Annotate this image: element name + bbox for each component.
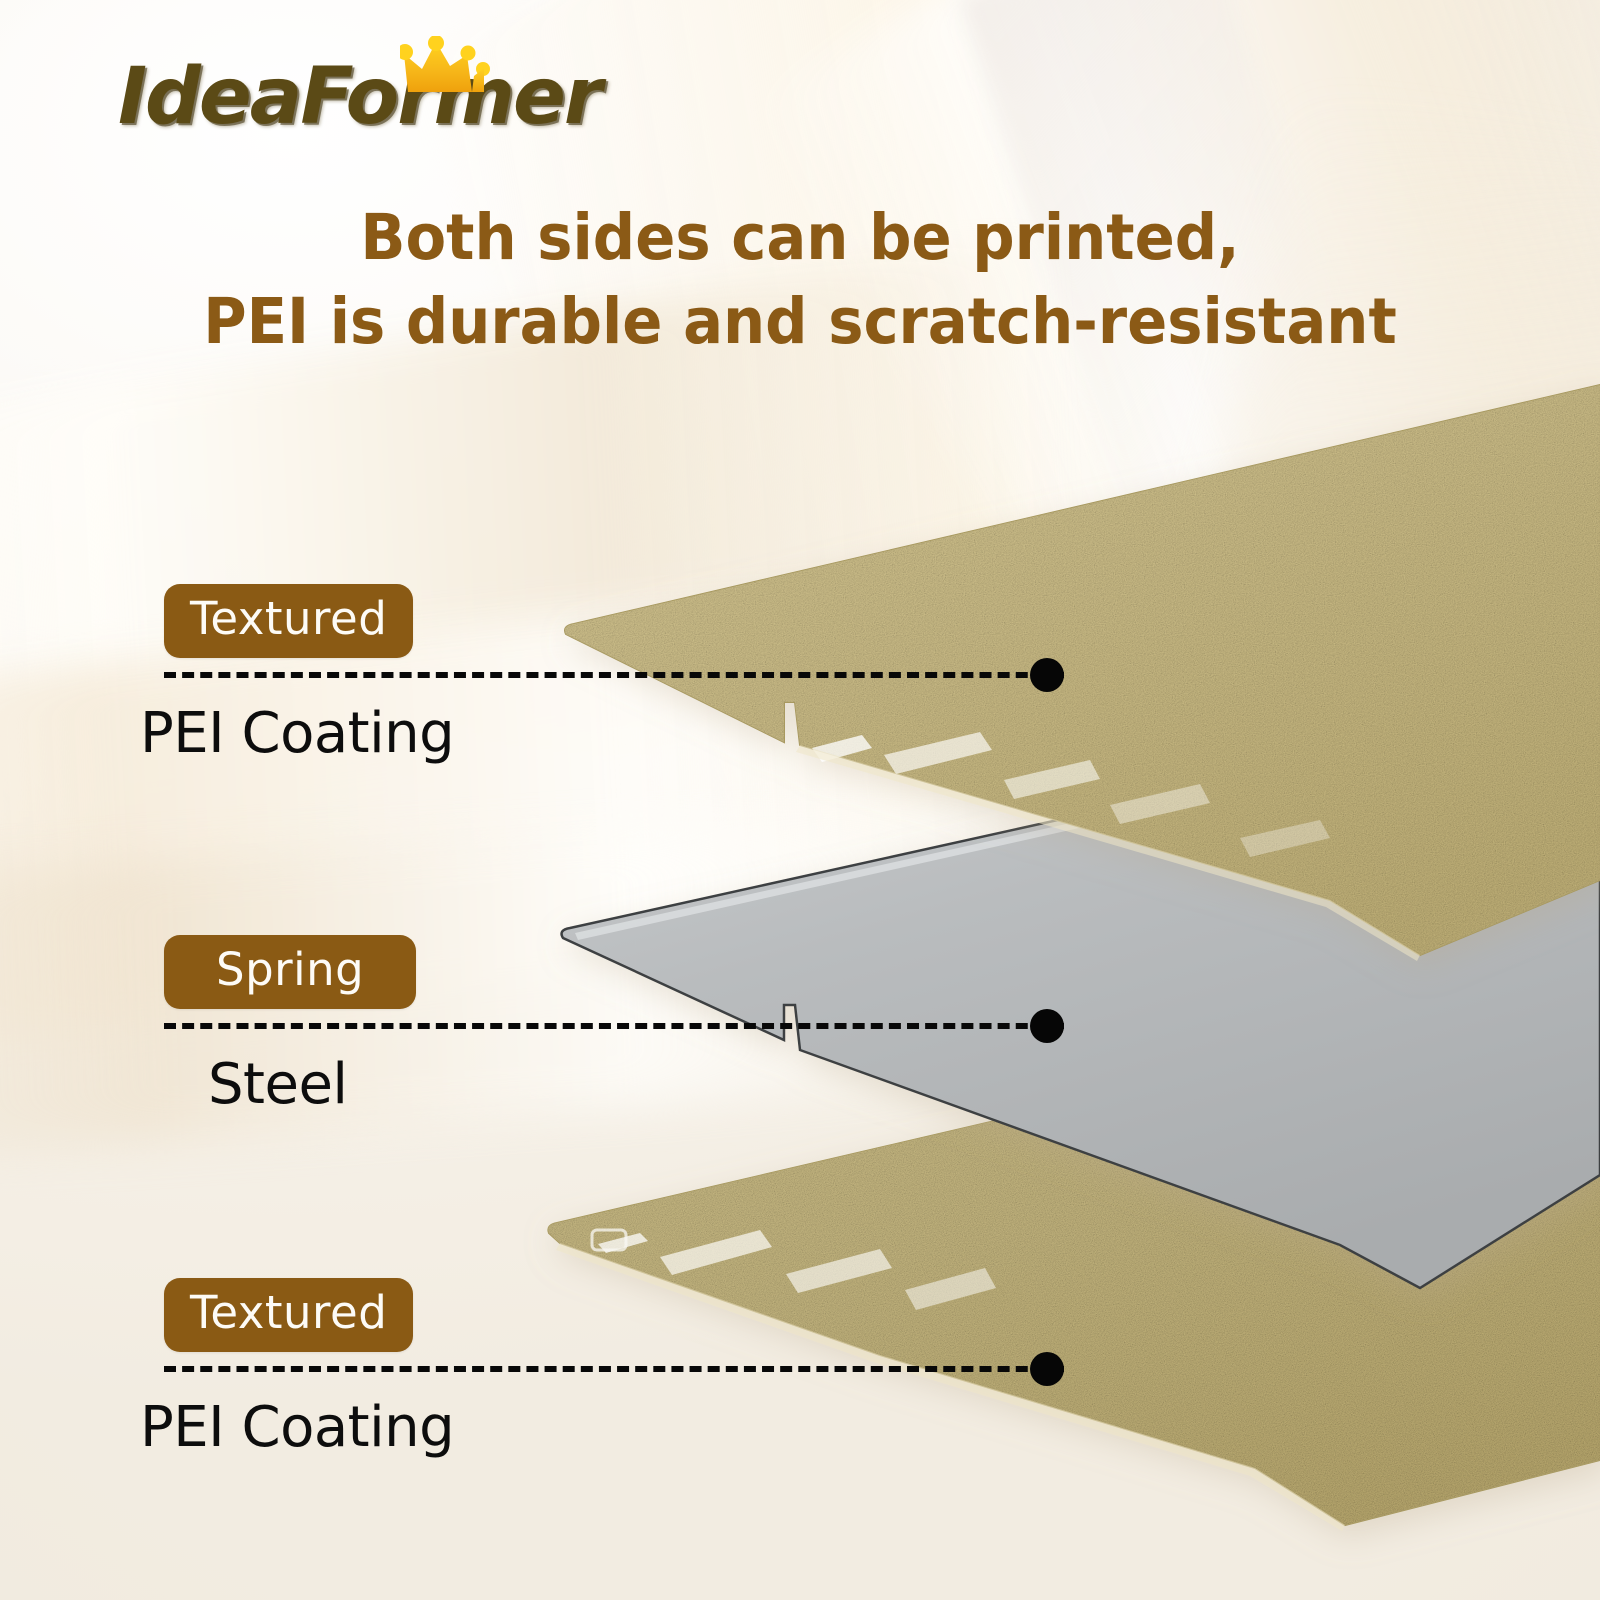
badge-textured-bottom: Textured xyxy=(164,1278,413,1352)
dashed-leader-bottom xyxy=(164,1366,1064,1372)
leader-dot-middle xyxy=(1030,1009,1064,1043)
callout-spring-steel: Spring Steel xyxy=(164,935,416,1119)
leader-line-middle xyxy=(164,1023,416,1029)
leader-dot-top xyxy=(1030,658,1064,692)
badge-textured-top: Textured xyxy=(164,584,413,658)
badge-spring: Spring xyxy=(164,935,416,1009)
infographic-canvas: IdeaFormer Both sides can be printed, PE… xyxy=(0,0,1600,1600)
callout-top-pei: Textured PEI Coating xyxy=(164,584,454,768)
leader-line-bottom xyxy=(164,1366,454,1372)
label-pei-coating-bottom: PEI Coating xyxy=(140,1394,454,1462)
leader-dot-bottom xyxy=(1030,1352,1064,1386)
leader-line-top xyxy=(164,672,454,678)
label-steel: Steel xyxy=(208,1051,416,1119)
dashed-leader-middle xyxy=(164,1023,1064,1029)
label-pei-coating-top: PEI Coating xyxy=(140,700,454,768)
callout-bottom-pei: Textured PEI Coating xyxy=(164,1278,454,1462)
dashed-leader-top xyxy=(164,672,1064,678)
